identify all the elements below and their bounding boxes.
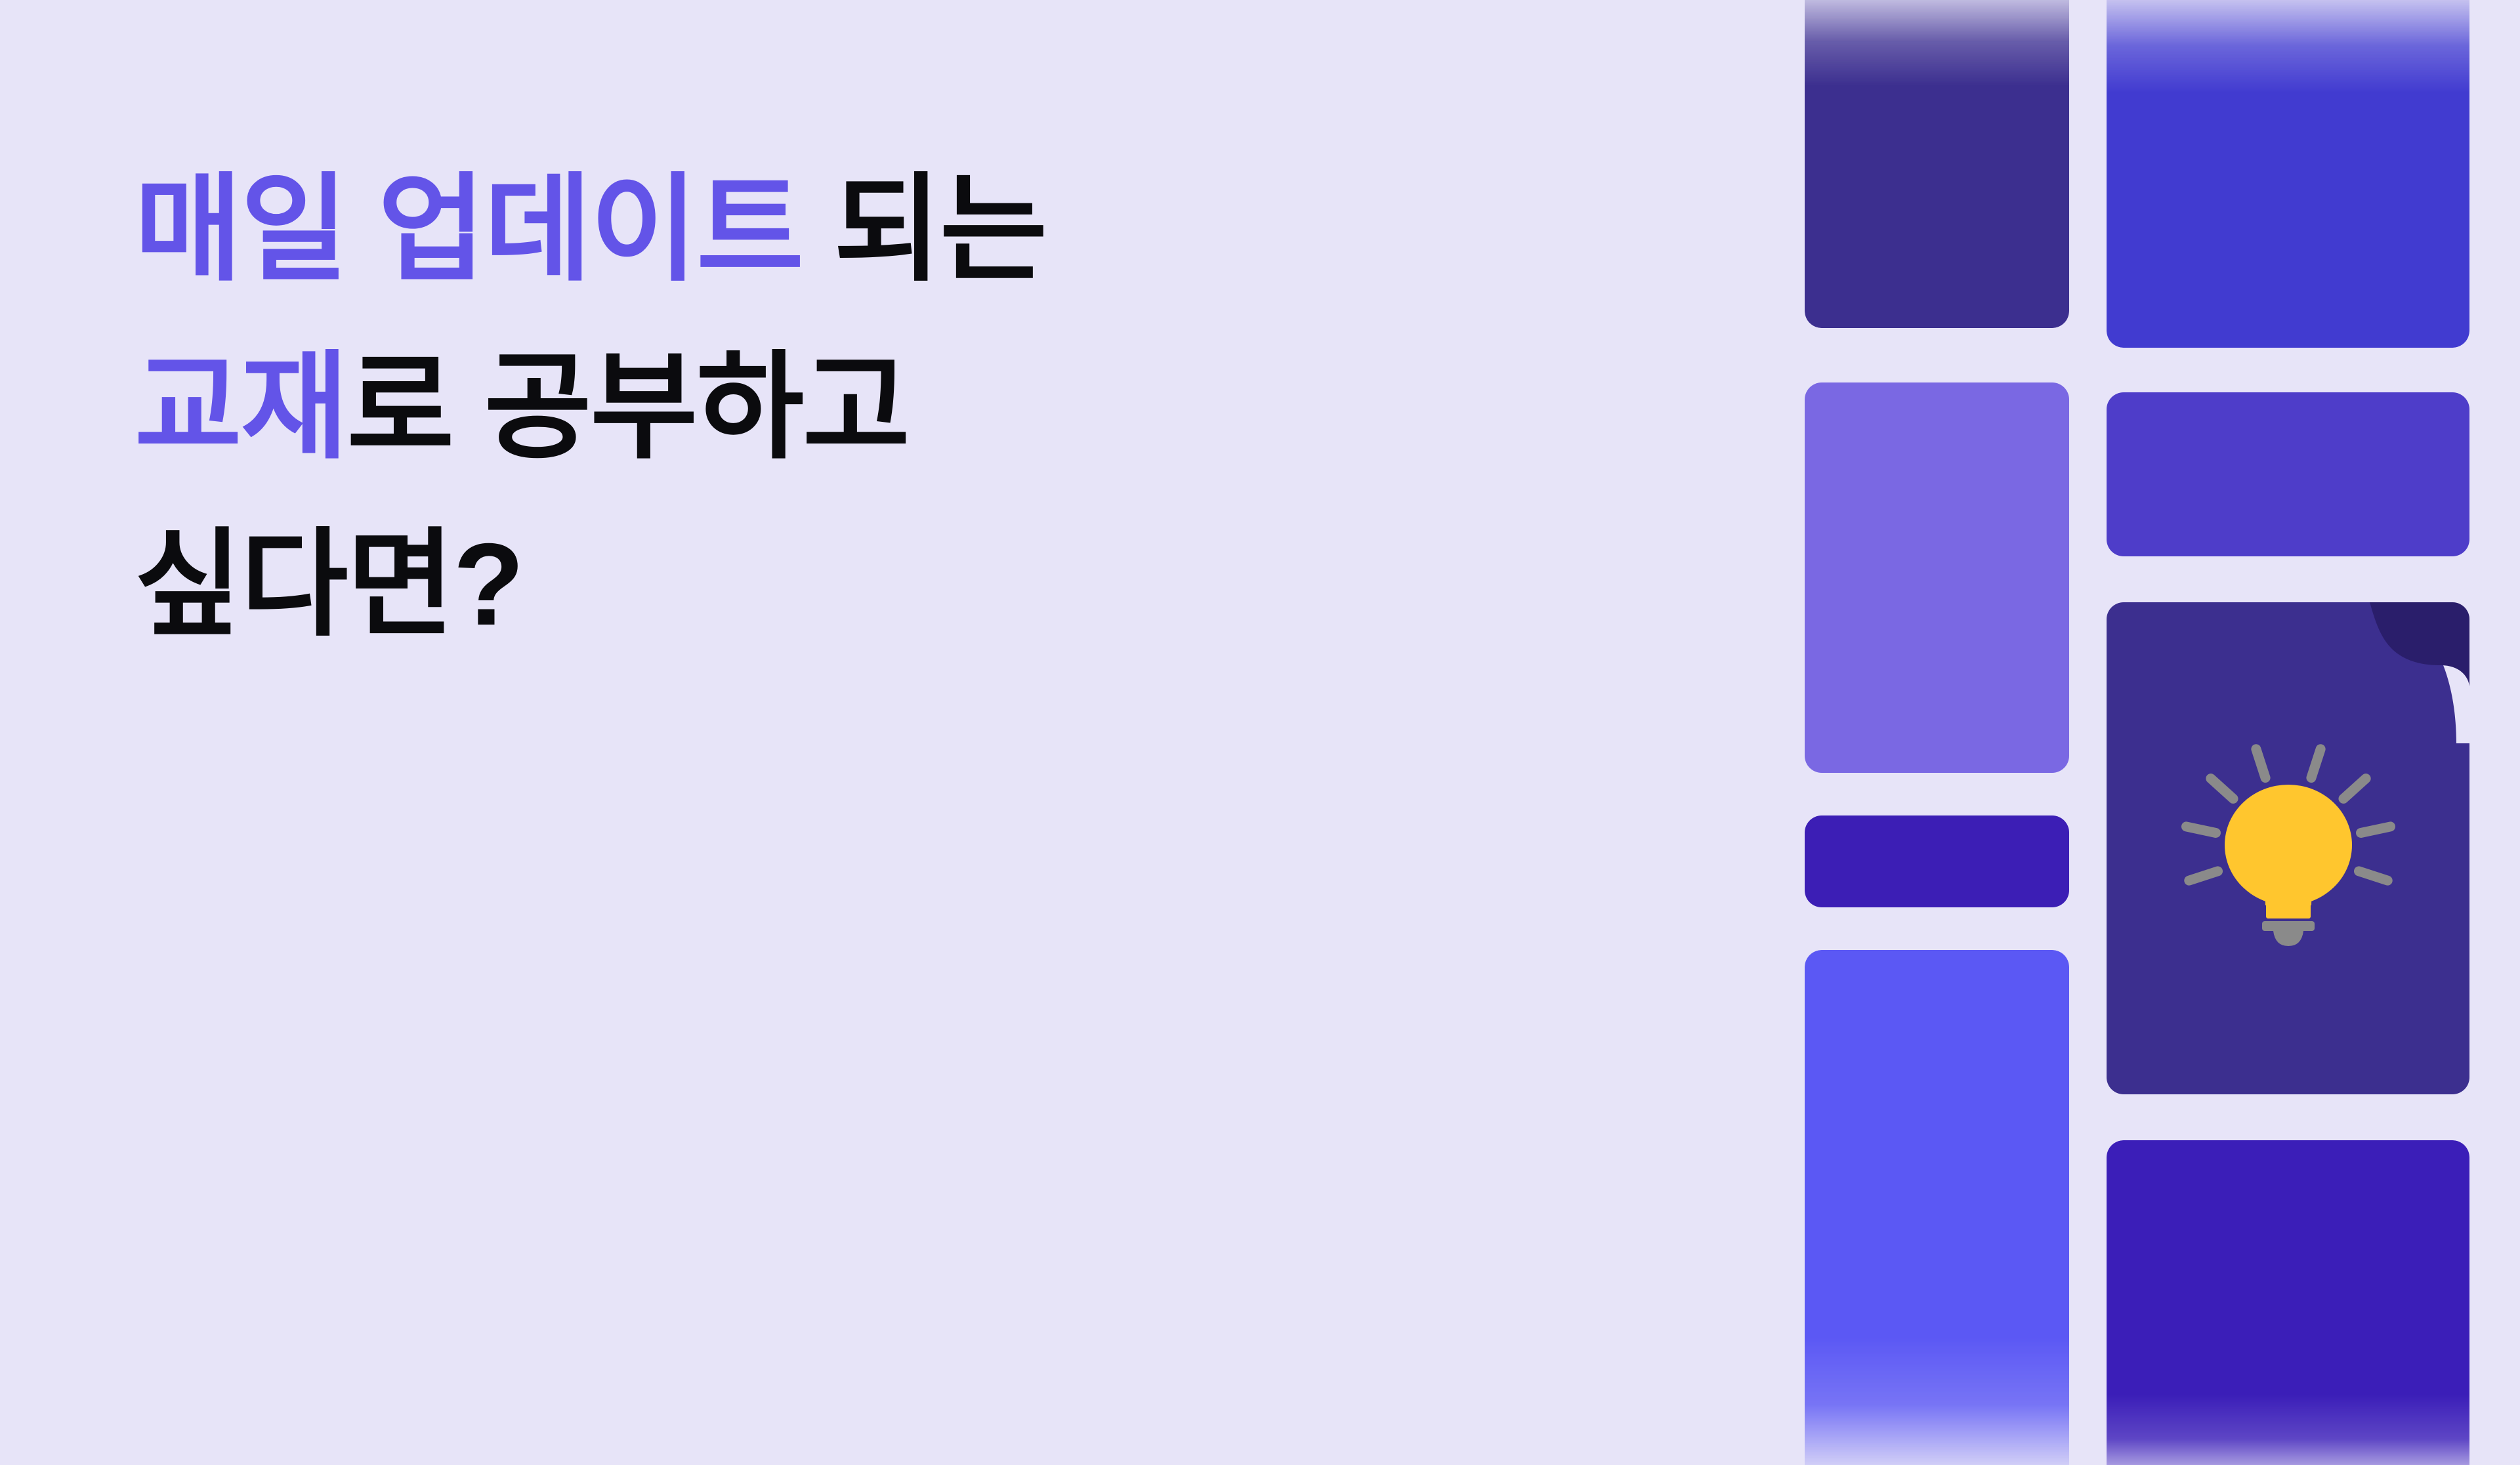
lightbulb-icon	[2167, 740, 2410, 957]
card-royal-blue	[2107, 0, 2469, 348]
page-curl-icon	[2319, 602, 2469, 743]
card-periwinkle	[1805, 950, 2069, 1465]
headline-line-1: 매일 업데이트 되는	[135, 141, 1644, 319]
card-bar-violet	[1805, 815, 2069, 907]
card-deep-indigo	[1805, 0, 2069, 328]
headline-accent-1: 매일 업데이트	[135, 164, 803, 295]
headline-accent-2: 교재	[135, 342, 347, 472]
headline-rest-2: 로 공부하고	[347, 342, 909, 472]
headline-line-3: 싶다면?	[135, 496, 1644, 674]
headline-rest-1: 되는	[803, 164, 1046, 295]
mosaic-right-column	[2107, 0, 2469, 1465]
headline-line-2: 교재로 공부하고	[135, 319, 1644, 497]
card-deep-violet	[2107, 1140, 2469, 1465]
card-mosaic	[1805, 0, 2469, 1465]
card-lavender	[1805, 382, 2069, 773]
card-slate-violet	[2107, 392, 2469, 556]
mosaic-left-column	[1805, 0, 2069, 1465]
promo-canvas: 매일 업데이트 되는 교재로 공부하고 싶다면?	[0, 0, 2520, 1465]
headline-block: 매일 업데이트 되는 교재로 공부하고 싶다면?	[135, 141, 1644, 674]
card-lightbulb	[2107, 602, 2469, 1094]
